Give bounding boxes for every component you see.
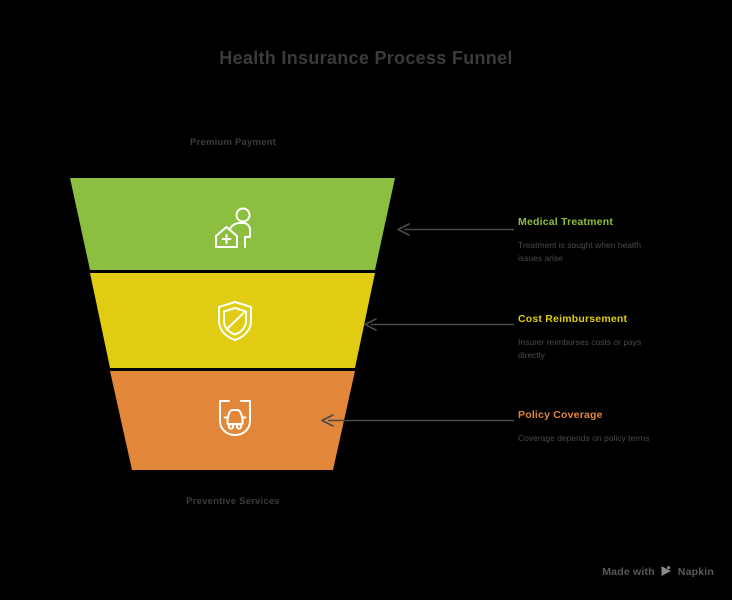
- funnel-svg: [60, 170, 410, 490]
- funnel-diagram-canvas: Health Insurance Process Funnel Premium …: [0, 0, 732, 600]
- stage-description: Treatment is sought when health issues a…: [518, 239, 653, 265]
- stage-title: Cost Reimbursement: [518, 313, 698, 325]
- made-with-napkin-credit[interactable]: Made with Napkin: [602, 565, 714, 578]
- page-title: Health Insurance Process Funnel: [0, 48, 732, 69]
- stage-title: Policy Coverage: [518, 409, 698, 421]
- funnel-segment-cost-reimbursement[interactable]: [90, 273, 375, 368]
- stage-annotation-medical-treatment: Medical Treatment Treatment is sought wh…: [518, 216, 698, 265]
- connector-arrow-policy-coverage: [320, 413, 516, 429]
- stage-description: Coverage depends on policy terms: [518, 432, 653, 445]
- stage-description: Insurer reimburses costs or pays directl…: [518, 336, 653, 362]
- napkin-brand-label: Napkin: [678, 566, 714, 578]
- funnel-shape: [60, 170, 410, 490]
- funnel-segment-medical-treatment[interactable]: [70, 178, 395, 270]
- funnel-bottom-label: Preventive Services: [113, 496, 353, 507]
- made-with-label: Made with: [602, 566, 655, 578]
- connector-arrow-cost-reimbursement: [363, 317, 516, 333]
- stage-annotation-policy-coverage: Policy Coverage Coverage depends on poli…: [518, 409, 698, 445]
- funnel-segment-policy-coverage[interactable]: [110, 371, 355, 470]
- stage-annotation-cost-reimbursement: Cost Reimbursement Insurer reimburses co…: [518, 313, 698, 362]
- connector-arrow-medical-treatment: [396, 222, 516, 238]
- napkin-logo-icon: [660, 565, 673, 578]
- funnel-top-label: Premium Payment: [113, 137, 353, 148]
- stage-title: Medical Treatment: [518, 216, 698, 228]
